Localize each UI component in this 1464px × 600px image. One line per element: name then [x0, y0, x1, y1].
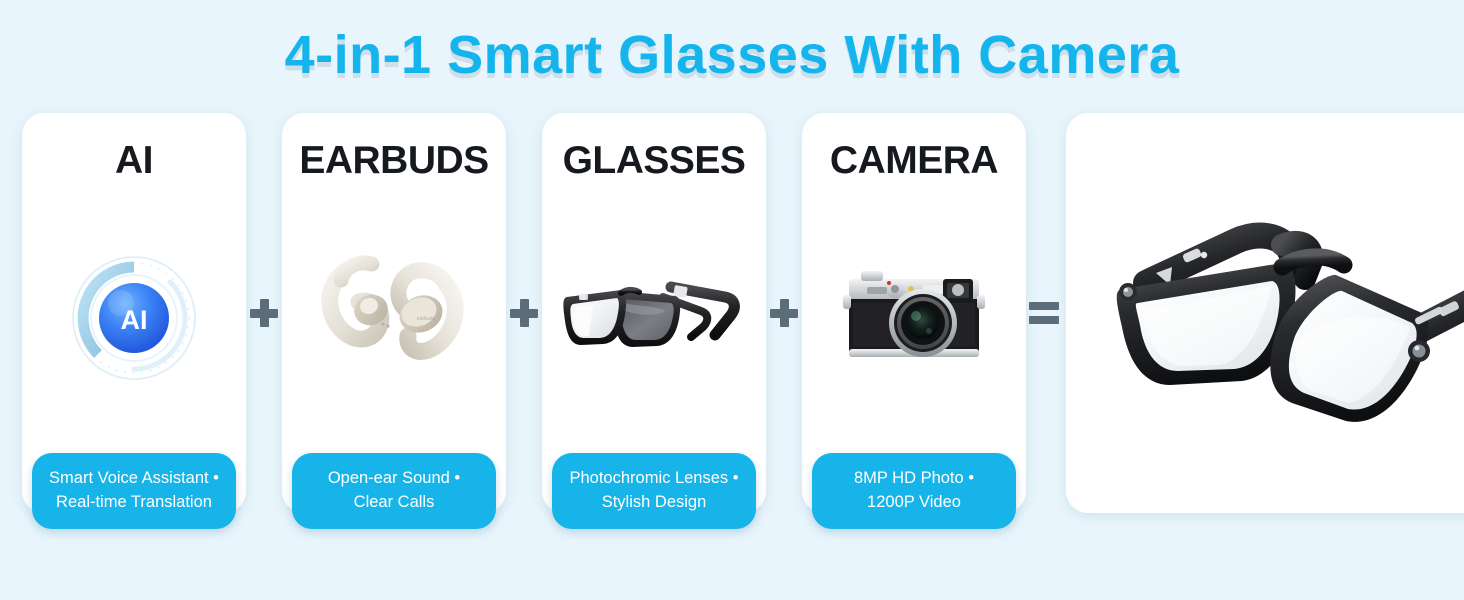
- plus-icon: [770, 299, 798, 327]
- title-bar: 4-in-1 Smart Glasses With Camera: [0, 26, 1464, 98]
- caption-line-2: 1200P Video: [820, 491, 1008, 514]
- feature-card-earbuds[interactable]: EARBUDS: [282, 113, 506, 513]
- feature-card-ai[interactable]: AI: [22, 113, 246, 513]
- feature-caption-glasses: Photochromic Lenses • Stylish Design: [552, 453, 756, 529]
- feature-card-camera[interactable]: CAMERA: [802, 113, 1026, 513]
- caption-line-1: 8MP HD Photo •: [820, 467, 1008, 490]
- smart-glasses-product-icon: [1086, 163, 1464, 463]
- feature-caption-earbuds: Open-ear Sound • Clear Calls: [292, 453, 496, 529]
- feature-heading: GLASSES: [563, 141, 746, 180]
- caption-line-1: Smart Voice Assistant •: [40, 467, 228, 490]
- caption-line-2: Stylish Design: [560, 491, 748, 514]
- caption-line-1: Photochromic Lenses •: [560, 467, 748, 490]
- feature-caption-ai: Smart Voice Assistant • Real-time Transl…: [32, 453, 236, 529]
- ai-orb-label: AI: [121, 305, 148, 335]
- result-panel[interactable]: [1066, 113, 1464, 513]
- ai-orb-icon: AI: [69, 253, 199, 383]
- caption-line-1: Open-ear Sound •: [300, 467, 488, 490]
- feature-heading: CAMERA: [830, 141, 998, 180]
- photochromic-glasses-icon: [559, 263, 749, 373]
- page-title: 4-in-1 Smart Glasses With Camera: [0, 26, 1464, 85]
- feature-row: AI: [22, 113, 1442, 513]
- caption-line-2: Clear Calls: [300, 491, 488, 514]
- open-ear-earbuds-icon: earbuds: [314, 254, 474, 382]
- compact-camera-icon: [839, 259, 989, 377]
- feature-caption-camera: 8MP HD Photo • 1200P Video: [812, 453, 1016, 529]
- feature-heading: EARBUDS: [299, 141, 488, 180]
- operator-equals: [1026, 113, 1062, 513]
- operator-plus-2: [506, 113, 542, 513]
- operator-plus-3: [766, 113, 802, 513]
- operator-plus-1: [246, 113, 282, 513]
- svg-text:earbuds: earbuds: [417, 316, 436, 322]
- plus-icon: [250, 299, 278, 327]
- plus-icon: [510, 299, 538, 327]
- equals-icon: [1029, 301, 1059, 325]
- feature-heading: AI: [115, 141, 153, 180]
- caption-line-2: Real-time Translation: [40, 491, 228, 514]
- feature-card-glasses[interactable]: GLASSES: [542, 113, 766, 513]
